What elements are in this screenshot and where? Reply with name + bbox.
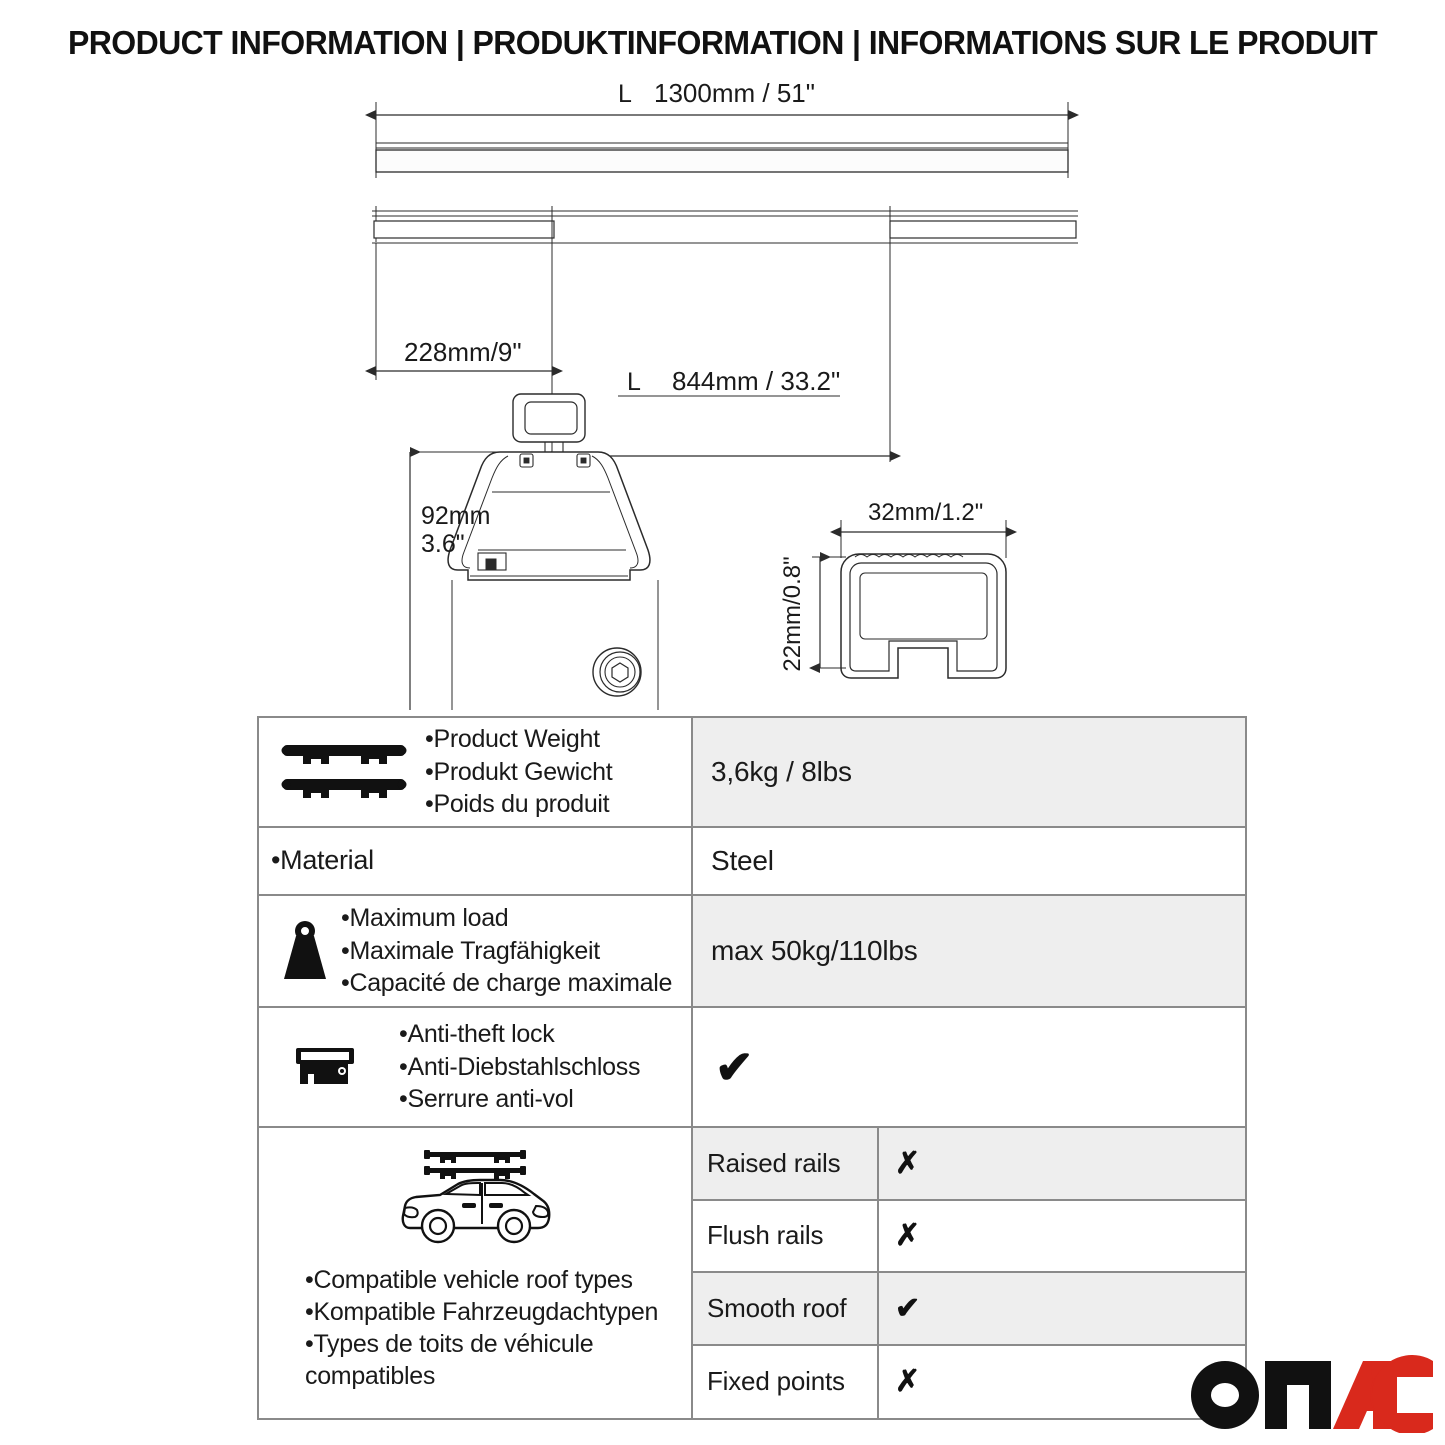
foot-offset-value: 228mm/9" — [404, 337, 522, 367]
profile-height-value: 22mm/0.8" — [779, 556, 806, 671]
crossbars-pair-icon — [269, 739, 419, 805]
page-title: PRODUCT INFORMATION | PRODUKTINFORMATION… — [22, 24, 1424, 62]
spec-label-line: •Types de toits de véhicule — [305, 1328, 658, 1360]
spec-label-cell: •Maximum load •Maximale Tragfähigkeit •C… — [259, 896, 693, 1006]
roof-type-row-flush-rails: Flush rails ✗ — [693, 1201, 1245, 1274]
weight-kettlebell-icon — [269, 919, 341, 983]
spec-label-line: •Maximale Tragfähigkeit — [341, 935, 683, 968]
logo-letter-a — [1333, 1361, 1397, 1429]
spec-label-line: •Serrure anti-vol — [399, 1083, 683, 1116]
bar-lock-icon — [269, 1042, 387, 1092]
technical-drawing-area: L 1300mm / 51" 228mm/9" L 844mm / 33.2" … — [0, 80, 1445, 710]
bar-length-value: 1300mm / 51" — [654, 80, 815, 108]
profile-width-value: 32mm/1.2" — [868, 499, 983, 526]
table-row: •Anti-theft lock •Anti-Diebstahlschloss … — [259, 1008, 1245, 1128]
spec-label-line: •Poids du produit — [425, 788, 683, 821]
spec-label-line: •Maximum load — [341, 902, 683, 935]
roof-type-name: Fixed points — [693, 1346, 879, 1419]
cross-icon: ✗ — [879, 1128, 1245, 1199]
spec-label-text: •Anti-theft lock •Anti-Diebstahlschloss … — [387, 1018, 683, 1116]
spec-label-line: •Compatible vehicle roof types — [305, 1264, 658, 1296]
table-row: •Product Weight •Produkt Gewicht •Poids … — [259, 718, 1245, 828]
spec-label-cell: •Product Weight •Produkt Gewicht •Poids … — [259, 718, 693, 826]
spec-label-cell: •Anti-theft lock •Anti-Diebstahlschloss … — [259, 1008, 693, 1126]
spec-label-line: compatibles — [305, 1360, 658, 1392]
bar-length-prefix: L — [618, 80, 632, 108]
table-row: •Compatible vehicle roof types •Kompatib… — [259, 1128, 1245, 1418]
foot-height-in: 3.6" — [421, 530, 465, 558]
dimension-drawings-svg: L 1300mm / 51" 228mm/9" L 844mm / 33.2" … — [0, 80, 1445, 710]
spec-label-cell: •Compatible vehicle roof types •Kompatib… — [259, 1128, 693, 1418]
roof-types-subtable: Raised rails ✗ Flush rails ✗ Smooth roof… — [693, 1128, 1245, 1418]
spec-label-text: •Maximum load •Maximale Tragfähigkeit •C… — [341, 902, 683, 1000]
spec-label-text: •Material — [271, 843, 683, 878]
spec-label-line: •Capacité de charge maximale — [341, 967, 683, 1000]
check-icon: ✔ — [879, 1273, 1245, 1344]
spec-label-text: •Compatible vehicle roof types •Kompatib… — [269, 1264, 658, 1412]
roof-type-row-smooth-roof: Smooth roof ✔ — [693, 1273, 1245, 1346]
spec-label-text: •Product Weight •Produkt Gewicht •Poids … — [419, 723, 683, 821]
omac-logo — [1185, 1355, 1435, 1433]
spec-value-weight: 3,6kg / 8lbs — [693, 718, 1245, 826]
logo-letter-o — [1191, 1361, 1259, 1429]
logo-letter-m — [1265, 1361, 1331, 1429]
spec-label-line: •Product Weight — [425, 723, 683, 756]
spec-label-line: •Material — [271, 843, 683, 878]
spec-value-maxload: max 50kg/110lbs — [693, 896, 1245, 1006]
spec-value-material: Steel — [693, 828, 1245, 894]
cross-icon: ✗ — [879, 1201, 1245, 1272]
omac-logo-svg — [1185, 1355, 1435, 1433]
spec-label-line: •Kompatible Fahrzeugdachtypen — [305, 1296, 658, 1328]
spec-label-cell: •Material — [259, 828, 693, 894]
spec-label-line: •Produkt Gewicht — [425, 756, 683, 789]
table-row: •Maximum load •Maximale Tragfähigkeit •C… — [259, 896, 1245, 1008]
roof-type-name: Smooth roof — [693, 1273, 879, 1344]
spec-value-lock: ✔ — [693, 1008, 1245, 1126]
spec-label-line: •Anti-Diebstahlschloss — [399, 1051, 683, 1084]
bar-span-value: 844mm / 33.2" — [672, 366, 840, 396]
roof-type-name: Flush rails — [693, 1201, 879, 1272]
roof-type-row-raised-rails: Raised rails ✗ — [693, 1128, 1245, 1201]
car-with-roofrack-icon — [396, 1142, 556, 1252]
foot-height-mm: 92mm — [421, 502, 490, 530]
spec-label-line: •Anti-theft lock — [399, 1018, 683, 1051]
check-icon: ✔ — [715, 1044, 753, 1090]
roof-type-row-fixed-points: Fixed points ✗ — [693, 1346, 1245, 1419]
product-spec-table: •Product Weight •Produkt Gewicht •Poids … — [257, 716, 1247, 1420]
bar-span-prefix: L — [627, 368, 641, 396]
table-row: •Material Steel — [259, 828, 1245, 896]
roof-type-name: Raised rails — [693, 1128, 879, 1199]
